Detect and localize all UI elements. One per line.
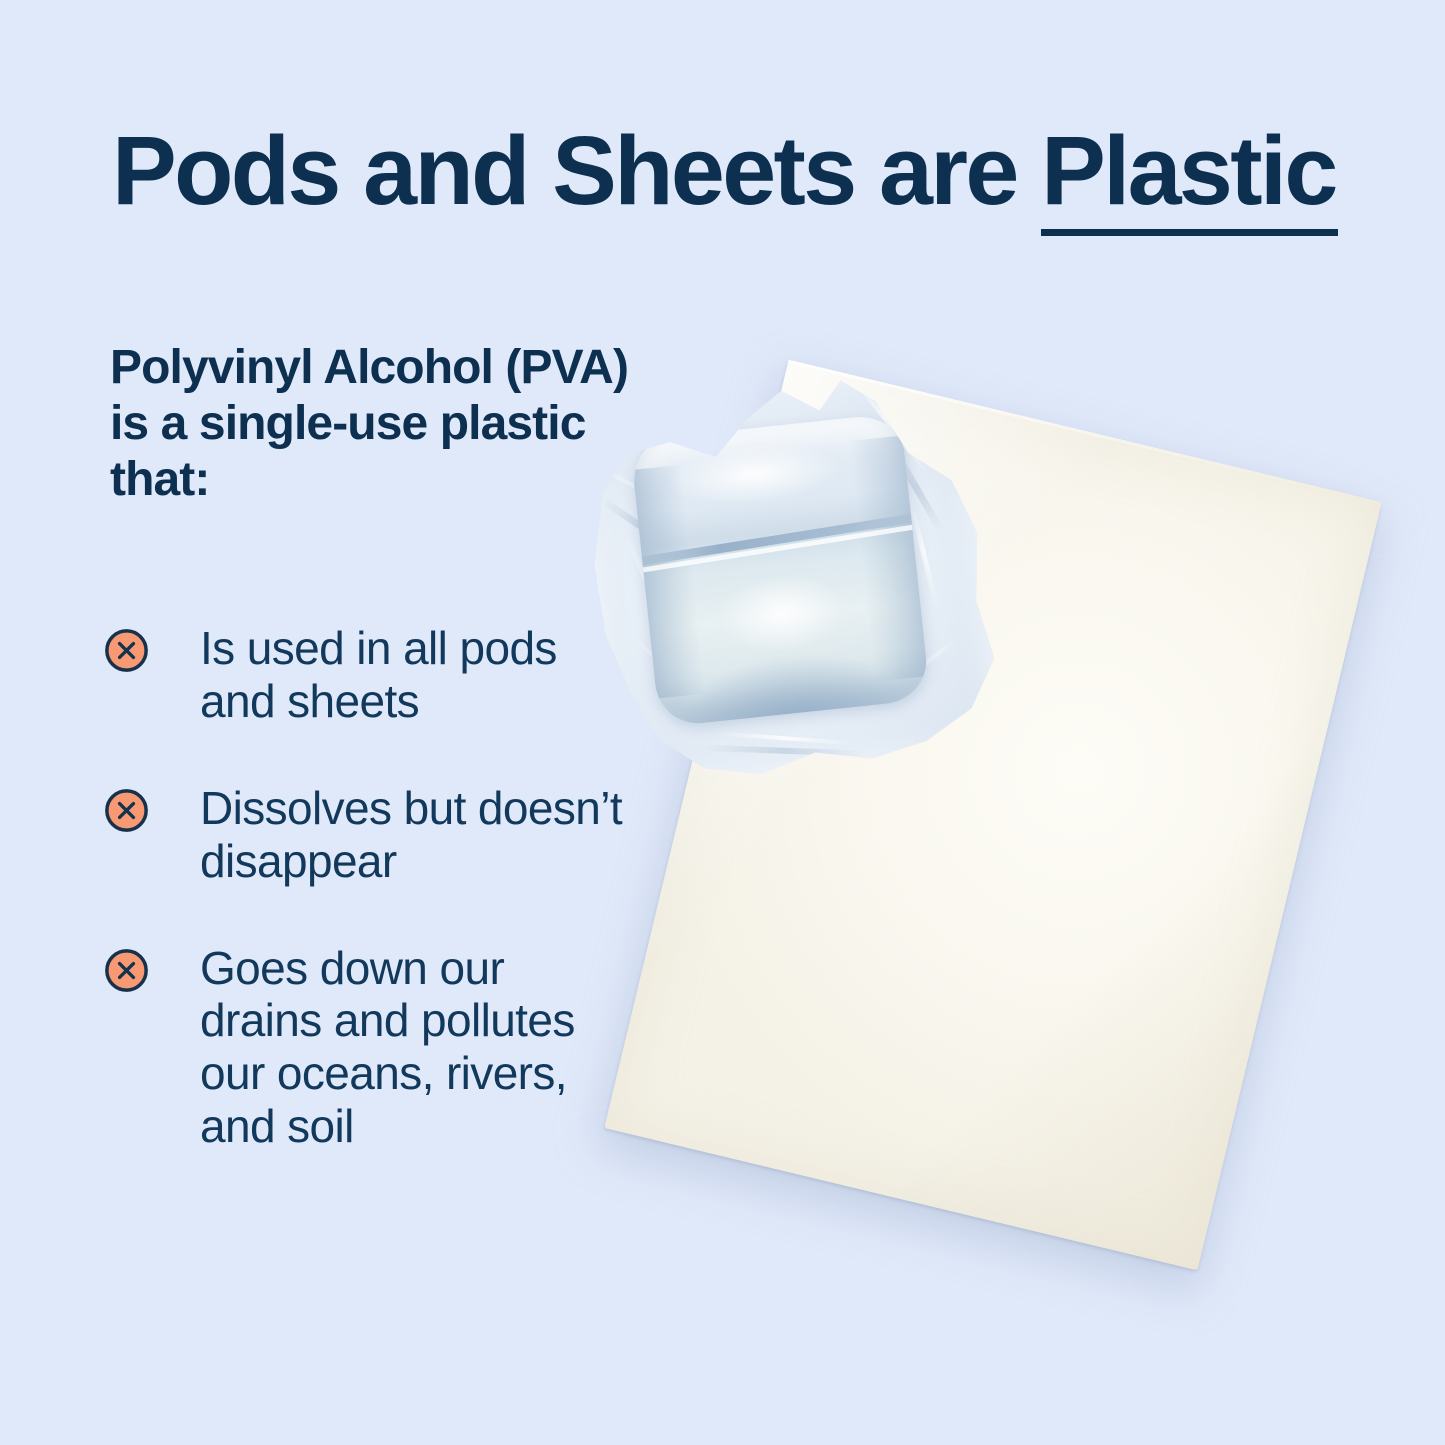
page-title-emphasis: Plastic bbox=[1041, 122, 1336, 219]
page-title: Pods and Sheets are Plastic bbox=[112, 122, 1382, 219]
infographic-canvas: Pods and Sheets are Plastic Polyvinyl Al… bbox=[0, 0, 1445, 1445]
pod-film-pouch bbox=[569, 359, 1008, 794]
pod-liquid-gel bbox=[630, 413, 931, 728]
x-circle-icon bbox=[104, 628, 149, 673]
list-item: Goes down our drains and pollutes our oc… bbox=[104, 942, 634, 1154]
x-circle-icon bbox=[104, 948, 149, 993]
x-circle-icon bbox=[104, 788, 149, 833]
laundry-detergent-pod bbox=[569, 357, 1031, 819]
page-title-prefix: Pods and Sheets are bbox=[112, 116, 1041, 225]
bullet-list: Is used in all pods and sheets Dissolves… bbox=[104, 622, 634, 1153]
detergent-pod-on-laundry-sheet-photo bbox=[560, 360, 1420, 1260]
list-item: Dissolves but doesn’t disappear bbox=[104, 782, 634, 888]
list-item: Is used in all pods and sheets bbox=[104, 622, 634, 728]
subhead: Polyvinyl Alcohol (PVA) is a single-use … bbox=[110, 340, 630, 508]
